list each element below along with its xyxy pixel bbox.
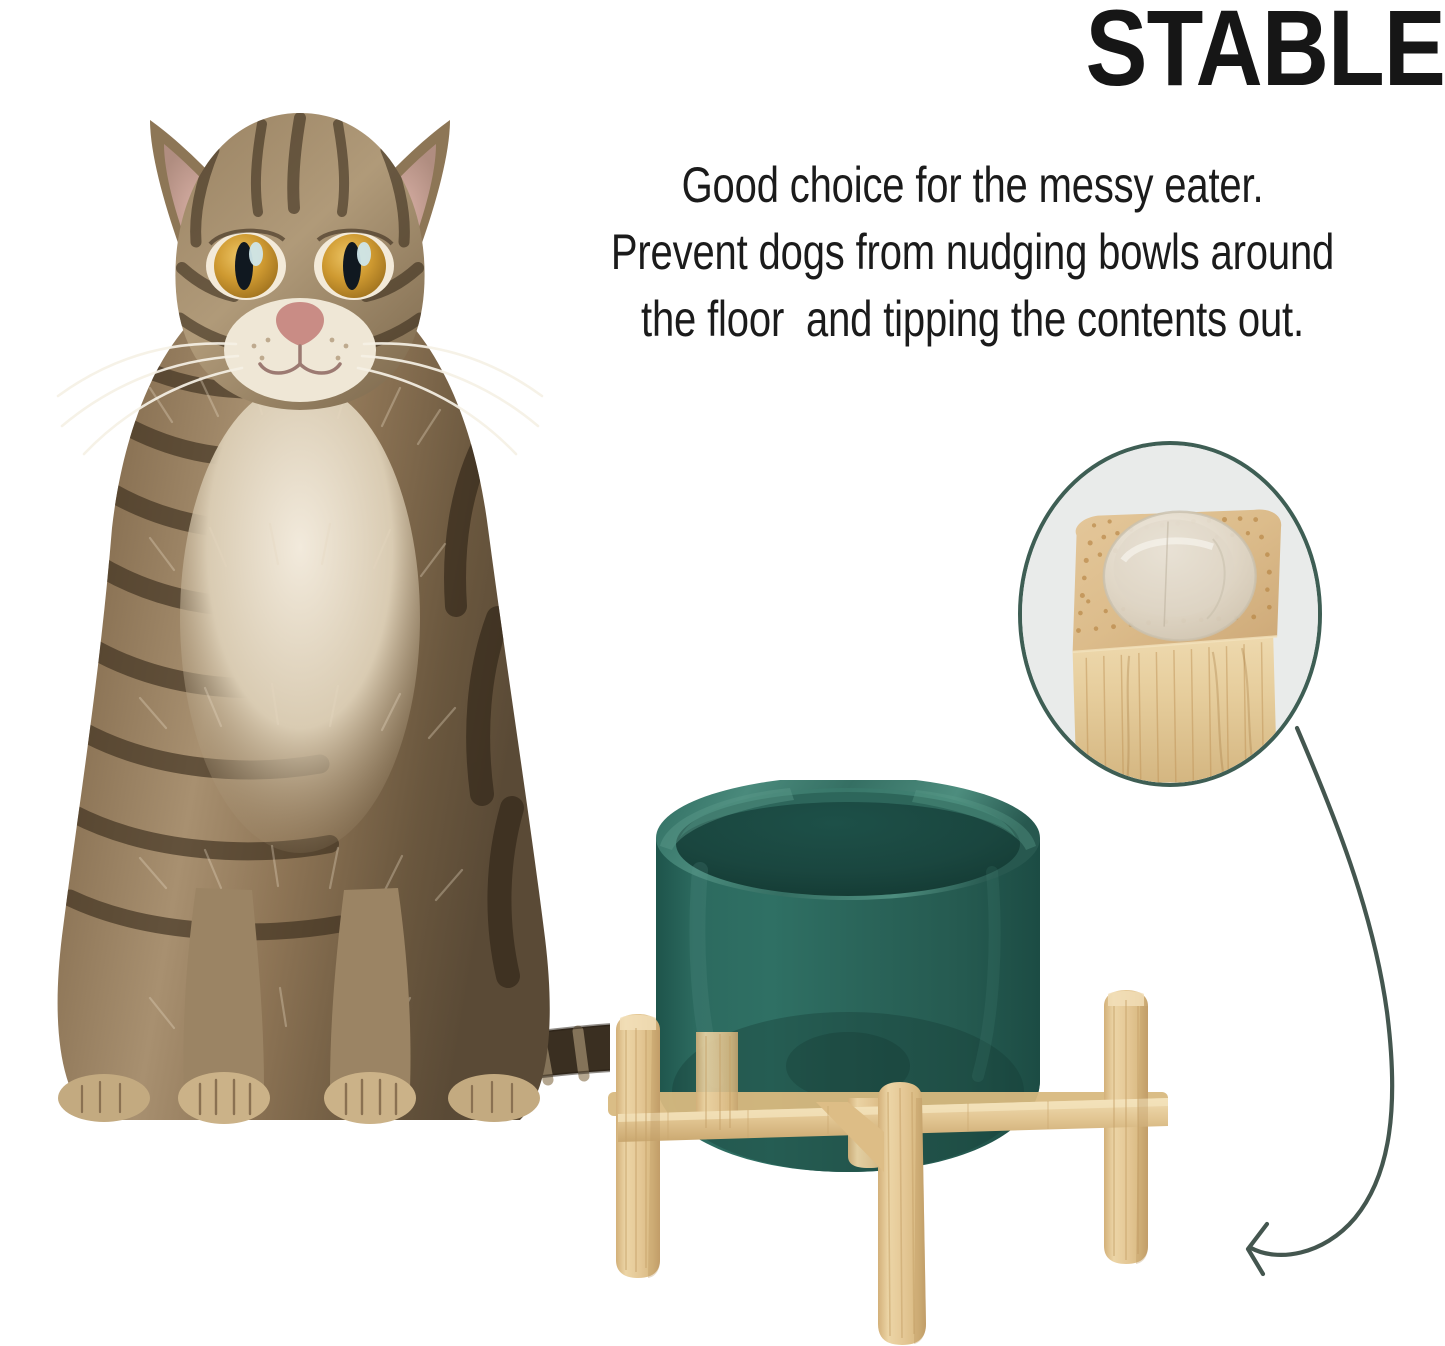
- cat-muzzle: [224, 298, 376, 402]
- product-photo: [548, 780, 1248, 1346]
- detail-inset-circle: [1018, 441, 1322, 787]
- description-line-3: the floor and tipping the contents out.: [579, 286, 1367, 353]
- product-marketing-image: STABLE Good choice for the messy eater. …: [0, 0, 1445, 1346]
- page-title: STABLE: [718, 0, 1445, 102]
- bamboo-leg-block: [1073, 510, 1282, 783]
- curved-arrow-icon: [1248, 728, 1392, 1274]
- silicone-pad: [1104, 512, 1256, 641]
- description-line-1: Good choice for the messy eater.: [579, 152, 1367, 219]
- cat-photo: [0, 58, 610, 1168]
- callout-arrow: [1215, 700, 1445, 1300]
- description-text-block: Good choice for the messy eater. Prevent…: [480, 152, 1445, 353]
- cat-head: [58, 113, 542, 454]
- description-line-2: Prevent dogs from nudging bowls around: [579, 219, 1367, 286]
